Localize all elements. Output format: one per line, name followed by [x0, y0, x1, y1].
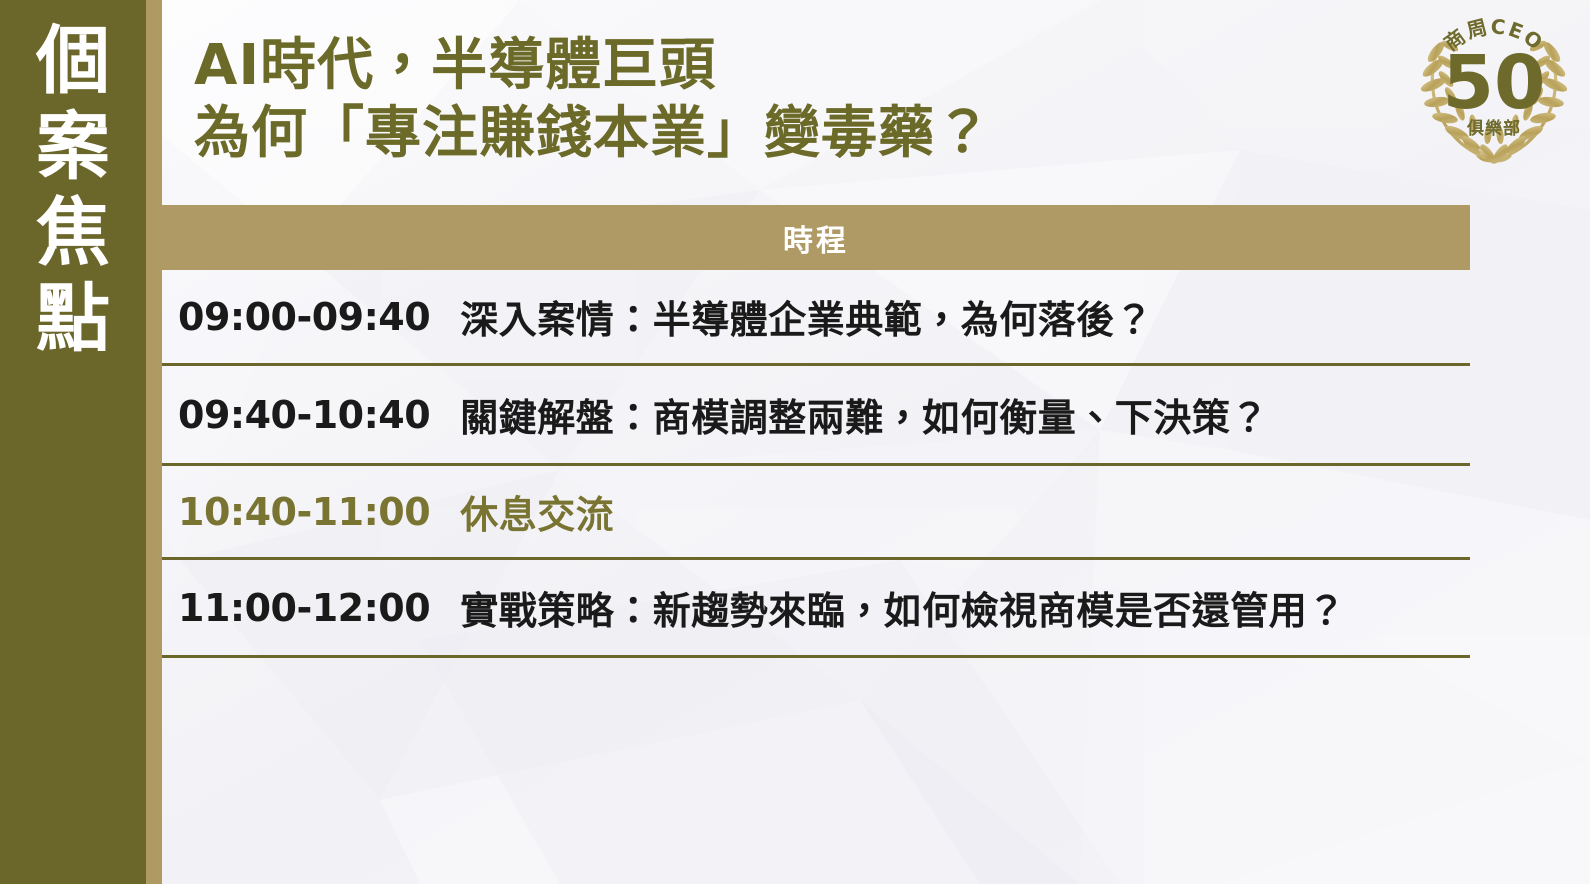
logo-number: 50: [1443, 40, 1546, 126]
row-topic: 深入案情：半導體企業典範，為何落後？: [460, 289, 1153, 344]
table-row[interactable]: 10:40-11:00 休息交流: [162, 466, 1470, 560]
content-area: AI時代，半導體巨頭 為何「專注賺錢本業」變毒藥？: [162, 0, 1590, 884]
page-title-line-2: 為何「專注賺錢本業」變毒藥？: [194, 100, 1374, 168]
row-time: 10:40-11:00: [178, 490, 430, 534]
table-row[interactable]: 09:40-10:40 關鍵解盤：商模調整兩難，如何衡量、下決策？: [162, 366, 1470, 466]
table-row[interactable]: 11:00-12:00 實戰策略：新趨勢來臨，如何檢視商模是否還管用？: [162, 560, 1470, 658]
row-topic: 休息交流: [460, 484, 614, 539]
sidebar-accent-band: [146, 0, 162, 884]
table-row[interactable]: 09:00-09:40 深入案情：半導體企業典範，為何落後？: [162, 270, 1470, 366]
row-topic: 實戰策略：新趨勢來臨，如何檢視商模是否還管用？: [460, 580, 1346, 635]
schedule-table: 時程 09:00-09:40 深入案情：半導體企業典範，為何落後？ 09:40-…: [162, 205, 1470, 658]
sidebar-band: 個 案 焦 點: [0, 0, 146, 884]
row-time: 11:00-12:00: [178, 586, 430, 630]
brand-logo: 商周CEO 50 俱樂部: [1406, 4, 1582, 172]
logo-sub-text: 俱樂部: [1466, 118, 1521, 139]
sidebar-section-label: 個 案 焦 點: [0, 18, 146, 362]
row-topic: 關鍵解盤：商模調整兩難，如何衡量、下決策？: [460, 387, 1269, 442]
row-time: 09:40-10:40: [178, 393, 430, 437]
page-title: AI時代，半導體巨頭 為何「專注賺錢本業」變毒藥？: [194, 32, 1374, 168]
page-title-line-1: AI時代，半導體巨頭: [194, 32, 1374, 100]
row-time: 09:00-09:40: [178, 295, 430, 339]
schedule-column-header: 時程: [162, 205, 1470, 270]
slide-canvas: 個 案 焦 點 AI時代，半導體巨頭 為何「專注賺錢本業」變毒藥？: [0, 0, 1590, 884]
